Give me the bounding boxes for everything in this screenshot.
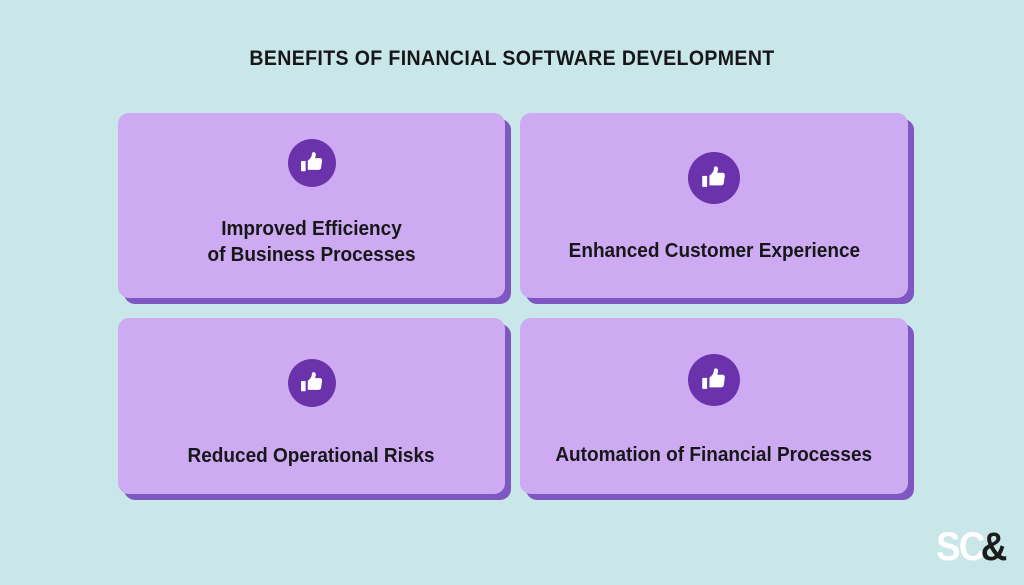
benefit-card-title: Improved Efficiency of Business Processe… xyxy=(194,216,429,268)
thumbs-up-icon xyxy=(288,359,336,407)
brand-logo-primary: SC xyxy=(936,527,983,567)
page-title: BENEFITS OF FINANCIAL SOFTWARE DEVELOPME… xyxy=(36,47,988,71)
benefit-card-reduced-operational-risks[interactable]: Reduced Operational Risks xyxy=(118,318,505,494)
benefit-card-title: Enhanced Customer Experience xyxy=(555,238,873,264)
thumbs-up-icon xyxy=(688,354,740,406)
brand-logo-ampersand: & xyxy=(980,527,1005,567)
benefit-card-automation-of-financial-processes[interactable]: Automation of Financial Processes xyxy=(520,318,908,494)
benefit-card-enhanced-customer-experience[interactable]: Enhanced Customer Experience xyxy=(520,113,908,298)
benefit-card-title: Reduced Operational Risks xyxy=(175,443,449,469)
infographic-canvas: BENEFITS OF FINANCIAL SOFTWARE DEVELOPME… xyxy=(0,0,1024,585)
thumbs-up-icon xyxy=(288,139,336,187)
benefits-card-grid: Improved Efficiency of Business Processe… xyxy=(118,113,914,500)
benefit-card-title: Automation of Financial Processes xyxy=(542,442,885,468)
thumbs-up-icon xyxy=(688,152,740,204)
brand-logo: SC & xyxy=(936,527,1005,567)
benefit-card-improved-efficiency[interactable]: Improved Efficiency of Business Processe… xyxy=(118,113,505,298)
